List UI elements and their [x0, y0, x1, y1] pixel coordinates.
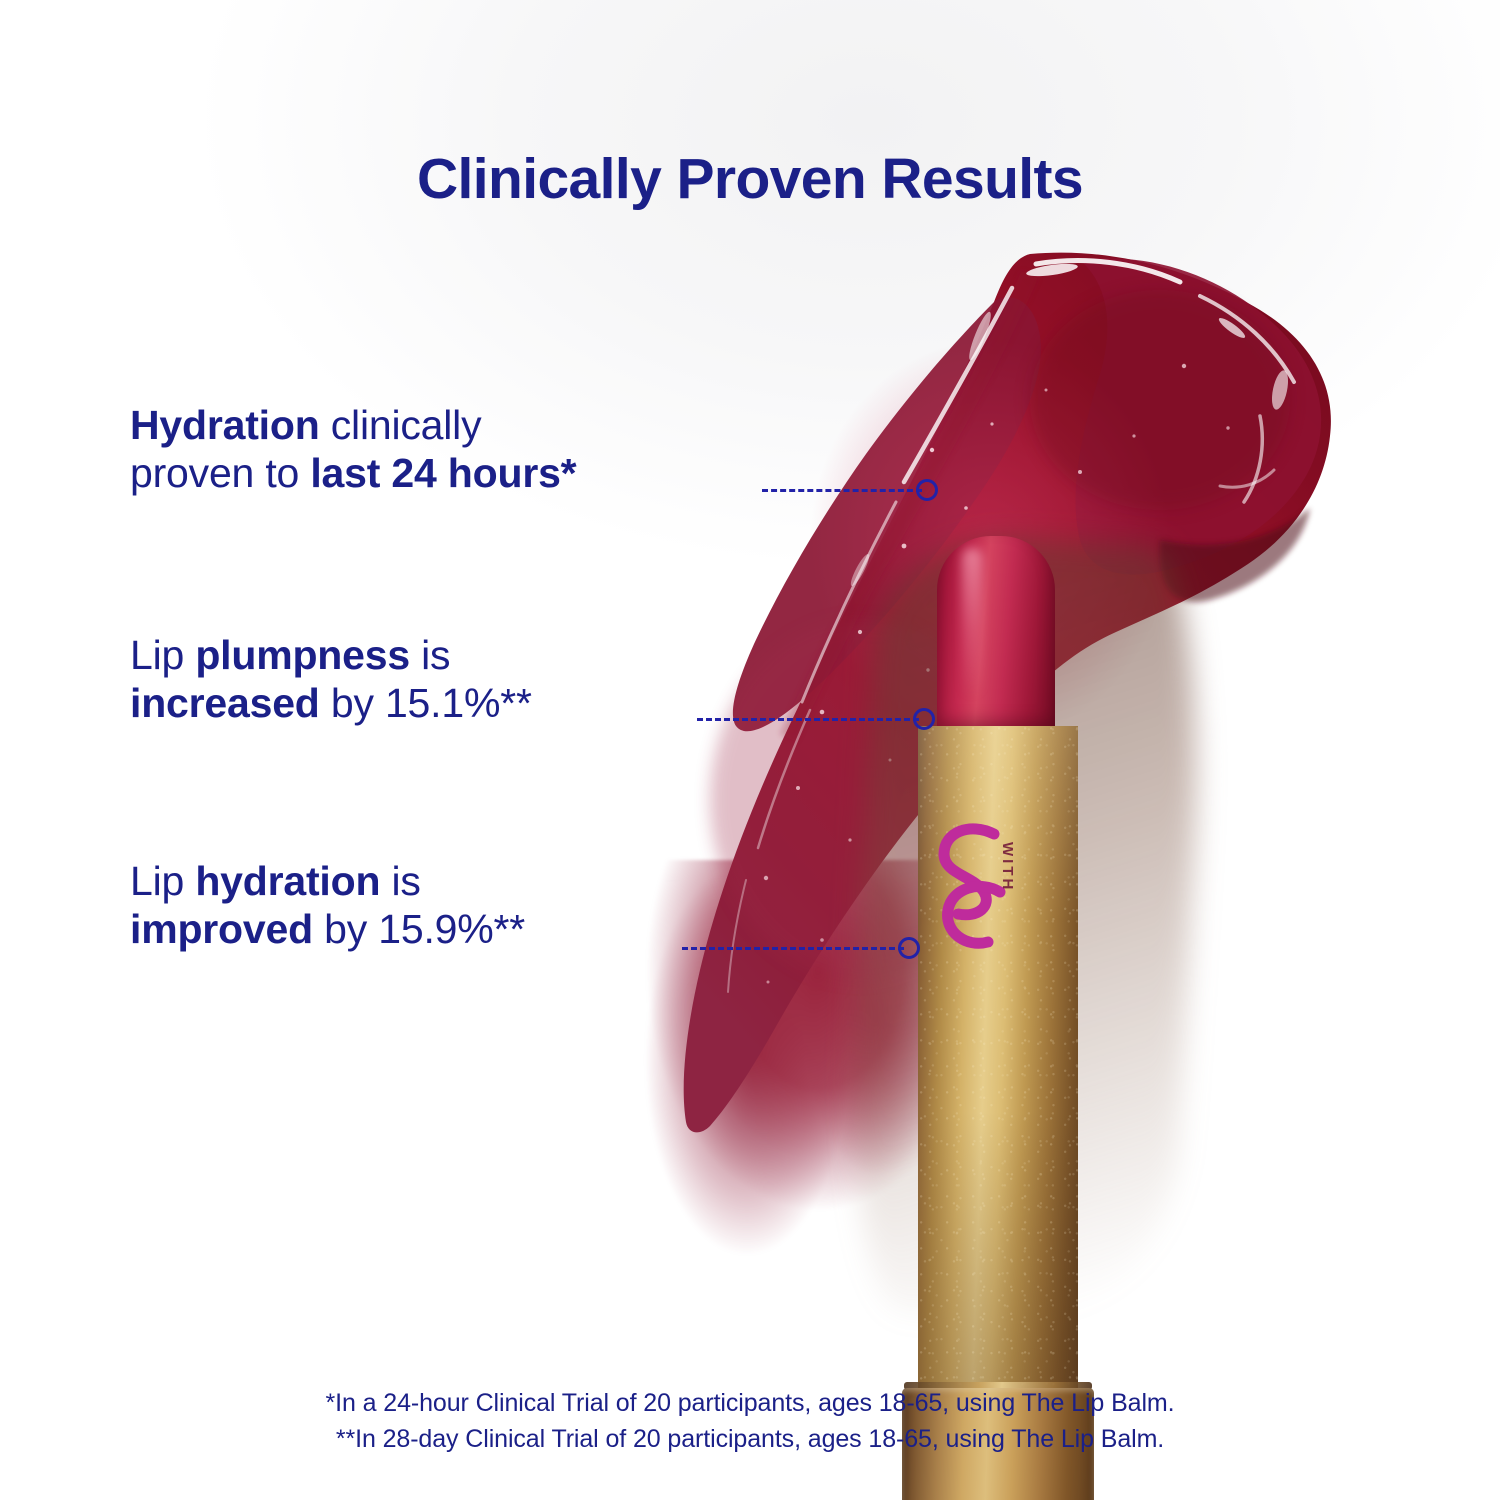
claim-2-line-2: increased by 15.1%** [130, 680, 770, 728]
product-claims-card: Clinically Proven Results [0, 0, 1500, 1500]
swatch-deep-tone [1030, 290, 1290, 510]
claim-1-pre-2: proven to [130, 450, 310, 496]
claim-lip-plumpness: Lip plumpness is increased by 15.1%** [130, 632, 770, 727]
claim-3-bold-2: improved [130, 906, 313, 952]
claim-1-bold-1: Hydration [130, 402, 320, 448]
balm-bullet-highlight [962, 548, 982, 698]
footnote-1: *In a 24-hour Clinical Trial of 20 parti… [0, 1385, 1500, 1421]
leader-marker-claim-1 [916, 479, 938, 501]
page-title: Clinically Proven Results [0, 146, 1500, 212]
claim-2-post-1: is [410, 632, 450, 678]
claim-2-line-1: Lip plumpness is [130, 632, 770, 680]
leader-line-claim-1 [762, 489, 922, 492]
claim-2-bold-2: increased [130, 680, 320, 726]
claim-3-bold-1: hydration [195, 858, 380, 904]
claim-2-pre-1: Lip [130, 632, 195, 678]
claim-3-line-1: Lip hydration is [130, 858, 770, 906]
claim-3-post-2: by 15.9%** [313, 906, 525, 952]
claim-1-line-2: proven to last 24 hours* [130, 450, 770, 498]
leader-marker-claim-3 [898, 937, 920, 959]
leader-marker-claim-2 [913, 708, 935, 730]
claim-3-line-2: improved by 15.9%** [130, 906, 770, 954]
claim-2-post-2: by 15.1%** [320, 680, 532, 726]
claim-1-bold-2: last 24 hours* [310, 450, 576, 496]
claim-1-rest-1: clinically [320, 402, 482, 448]
balm-bullet [937, 536, 1055, 732]
claim-3-post-1: is [380, 858, 420, 904]
claim-hydration-24h: Hydration clinically proven to last 24 h… [130, 402, 770, 497]
claim-1-line-1: Hydration clinically [130, 402, 770, 450]
footnotes: *In a 24-hour Clinical Trial of 20 parti… [0, 1385, 1500, 1457]
footnote-2: **In 28-day Clinical Trial of 20 partici… [0, 1421, 1500, 1457]
lip-balm-stick: WITH [890, 536, 1102, 1326]
claim-2-bold-1: plumpness [195, 632, 410, 678]
brand-side-text: WITH [999, 842, 1016, 892]
claim-3-pre-1: Lip [130, 858, 195, 904]
claim-lip-hydration: Lip hydration is improved by 15.9%** [130, 858, 770, 953]
